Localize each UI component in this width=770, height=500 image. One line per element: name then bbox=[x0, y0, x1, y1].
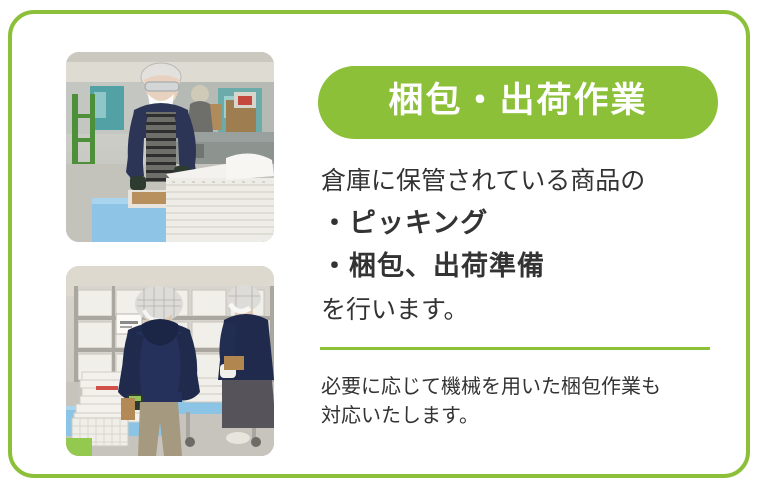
section-divider bbox=[320, 347, 710, 350]
photo-warehouse-picking-image bbox=[66, 266, 274, 456]
body-line-4: を行います。 bbox=[321, 288, 722, 331]
section-badge-label: 梱包・出荷作業 bbox=[388, 84, 647, 122]
body-line-1: 倉庫に保管されている商品の bbox=[321, 159, 722, 202]
photo-column bbox=[66, 52, 274, 456]
body-text-block: 倉庫に保管されている商品の ・ピッキング ・梱包、出荷準備 を行います。 bbox=[318, 159, 722, 331]
photo-packing-worker-image bbox=[66, 52, 274, 242]
section-badge: 梱包・出荷作業 bbox=[318, 66, 718, 139]
body-line-3-bullet: ・梱包、出荷準備 bbox=[321, 245, 722, 288]
note-line-1: 必要に応じて機械を用いた梱包作業も bbox=[321, 372, 722, 401]
body-line-2-bullet: ・ピッキング bbox=[321, 202, 722, 245]
note-line-2: 対応いたします。 bbox=[321, 401, 722, 430]
content-column: 梱包・出荷作業 倉庫に保管されている商品の ・ピッキング ・梱包、出荷準備 を行… bbox=[318, 66, 722, 430]
info-card: 梱包・出荷作業 倉庫に保管されている商品の ・ピッキング ・梱包、出荷準備 を行… bbox=[8, 10, 750, 478]
photo-packing-worker bbox=[66, 52, 274, 242]
photo-warehouse-picking bbox=[66, 266, 274, 456]
note-text-block: 必要に応じて機械を用いた梱包作業も 対応いたします。 bbox=[318, 372, 722, 430]
